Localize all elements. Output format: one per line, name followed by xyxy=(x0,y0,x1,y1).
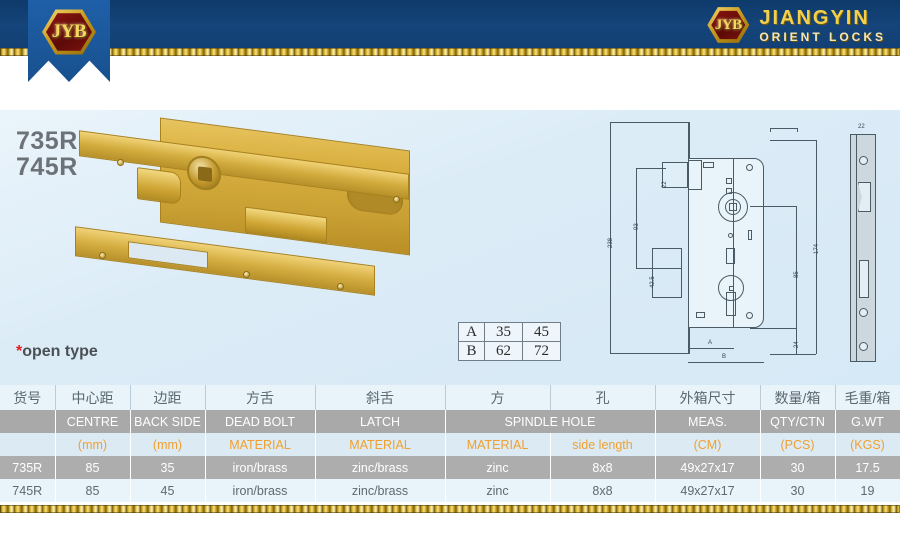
screw-hole xyxy=(117,159,124,166)
ab-value: 35 xyxy=(485,323,523,342)
screw-hole xyxy=(243,271,250,278)
cell-centre: 85 xyxy=(55,456,130,479)
cell-backside: 45 xyxy=(130,479,205,502)
ab-value: 72 xyxy=(523,342,561,361)
gold-divider-bottom xyxy=(0,505,900,513)
ab-value: 62 xyxy=(485,342,523,361)
model-numbers: 735R 745R xyxy=(16,128,78,181)
cell-spindle-side: 8x8 xyxy=(550,456,655,479)
gold-divider-top xyxy=(0,48,900,56)
col-en-centre: CENTRE xyxy=(55,410,130,433)
col-en-backside: BACK SIDE xyxy=(130,410,205,433)
col-cn-backside: 边距 xyxy=(130,385,205,410)
col-en-qty: QTY/CTN xyxy=(760,410,835,433)
faceplate-width-mark xyxy=(770,128,798,132)
hole-detail xyxy=(726,188,732,194)
cell-gwt: 17.5 xyxy=(835,456,900,479)
col-en-meas: MEAS. xyxy=(655,410,760,433)
col-en-latch: LATCH xyxy=(315,410,445,433)
pin-hole xyxy=(728,233,733,238)
cell-gwt: 19 xyxy=(835,479,900,502)
ab-value: 45 xyxy=(523,323,561,342)
slot-detail xyxy=(726,248,735,264)
model-number-2: 745R xyxy=(16,154,78,180)
open-type-label: open type xyxy=(22,343,98,360)
dim-24: 24 xyxy=(794,341,800,348)
col-unit-backside: (mm) xyxy=(130,433,205,456)
slot-detail xyxy=(696,312,705,318)
catalog-page: JYB JIANGYIN ORIENT LOCKS JYB 735R 745R … xyxy=(0,0,900,543)
faceplate-outline xyxy=(850,134,876,362)
col-en-gwt: G.WT xyxy=(835,410,900,433)
cell-meas: 49x27x17 xyxy=(655,479,760,502)
jyb-emblem-icon: JYB xyxy=(707,6,749,44)
ab-row: B 62 72 xyxy=(459,342,561,361)
dim-line xyxy=(770,140,816,141)
dim-line xyxy=(688,362,764,363)
table-row: 735R 85 35 iron/brass zinc/brass zinc 8x… xyxy=(0,456,900,479)
ab-label: A xyxy=(459,323,485,342)
product-photo xyxy=(75,128,435,358)
ab-label: B xyxy=(459,342,485,361)
col-en-blank xyxy=(0,410,55,433)
screw-hole xyxy=(337,283,344,290)
col-unit-deadbolt: MATERIAL xyxy=(205,433,315,456)
open-type-note: *open type xyxy=(16,343,98,361)
cell-deadbolt: iron/brass xyxy=(205,456,315,479)
cell-qty: 30 xyxy=(760,456,835,479)
cell-latch: zinc/brass xyxy=(315,456,445,479)
col-unit-latch: MATERIAL xyxy=(315,433,445,456)
technical-drawing: 238 93 42.5 xyxy=(600,120,890,370)
dim-line xyxy=(750,206,796,207)
slot-detail xyxy=(703,162,714,168)
cell-latch: zinc/brass xyxy=(315,479,445,502)
cell-spindle-material: zinc xyxy=(445,479,550,502)
dim-label-b: B xyxy=(722,354,726,360)
dim-line xyxy=(770,354,816,355)
faceplate-edge xyxy=(856,134,857,362)
brand-tagline: ORIENT LOCKS xyxy=(759,31,886,43)
dim-85: 85 xyxy=(794,271,800,278)
faceplate-screw-hole xyxy=(859,156,868,165)
col-unit-gwt: (KGS) xyxy=(835,433,900,456)
slot-detail xyxy=(748,230,752,240)
dim-line xyxy=(610,122,688,123)
dim-42-5: 42.5 xyxy=(650,276,656,288)
dim-93: 93 xyxy=(634,223,640,230)
dim-line xyxy=(750,328,796,329)
dim-overall: 238 xyxy=(608,238,614,248)
col-unit-meas: (CM) xyxy=(655,433,760,456)
col-unit-qty: (PCS) xyxy=(760,433,835,456)
table-header-row-cn: 货号 中心距 边距 方舌 斜舌 方 孔 外箱尺寸 数量/箱 毛重/箱 xyxy=(0,385,900,410)
col-cn-latch: 斜舌 xyxy=(315,385,445,410)
model-number-1: 735R xyxy=(16,128,78,154)
cell-model: 735R xyxy=(0,456,55,479)
screw-hole-circle xyxy=(746,164,753,171)
col-unit-blank xyxy=(0,433,55,456)
col-cn-meas: 外箱尺寸 xyxy=(655,385,760,410)
ab-dimension-table: A 35 45 B 62 72 xyxy=(458,322,561,361)
ab-row: A 35 45 xyxy=(459,323,561,342)
faceplate-bolt-cutout xyxy=(859,260,869,298)
col-cn-centre: 中心距 xyxy=(55,385,130,410)
cell-model: 745R xyxy=(0,479,55,502)
cylinder-stem xyxy=(726,292,736,316)
cell-meas: 49x27x17 xyxy=(655,456,760,479)
cell-qty: 30 xyxy=(760,479,835,502)
col-cn-model: 货号 xyxy=(0,385,55,410)
col-cn-gwt: 毛重/箱 xyxy=(835,385,900,410)
col-cn-deadbolt: 方舌 xyxy=(205,385,315,410)
brand-name: JIANGYIN xyxy=(759,8,886,28)
specification-table: 货号 中心距 边距 方舌 斜舌 方 孔 外箱尺寸 数量/箱 毛重/箱 CENTR… xyxy=(0,385,900,502)
table-row: 745R 85 45 iron/brass zinc/brass zinc 8x… xyxy=(0,479,900,502)
hole-detail xyxy=(726,178,732,184)
cell-backside: 35 xyxy=(130,456,205,479)
table-header-row-en: CENTRE BACK SIDE DEAD BOLT LATCH SPINDLE… xyxy=(0,410,900,433)
dim-line xyxy=(636,168,666,169)
col-en-spindle-hole: SPINDLE HOLE xyxy=(445,410,655,433)
dim-line xyxy=(796,206,797,328)
col-cn-spindle-b: 孔 xyxy=(550,385,655,410)
col-cn-spindle-a: 方 xyxy=(445,385,550,410)
faceplate-screw-hole xyxy=(859,342,868,351)
dim-faceplate-22: 22 xyxy=(858,124,865,130)
brand-text: JIANGYIN ORIENT LOCKS xyxy=(759,8,886,43)
screw-hole-circle xyxy=(746,312,753,319)
detail-box xyxy=(652,248,682,298)
emblem-text: JYB xyxy=(715,17,742,34)
table-header-row-unit: (mm) (mm) MATERIAL MATERIAL MATERIAL sid… xyxy=(0,433,900,456)
col-unit-spindle-material: MATERIAL xyxy=(445,433,550,456)
dim-line xyxy=(636,168,637,268)
cell-centre: 85 xyxy=(55,479,130,502)
cell-spindle-side: 8x8 xyxy=(550,479,655,502)
company-brand: JYB JIANGYIN ORIENT LOCKS xyxy=(707,6,886,44)
dim-22: 22 xyxy=(662,181,668,188)
dim-line xyxy=(688,348,734,349)
faceplate-screw-hole xyxy=(859,308,868,317)
latch-bolt xyxy=(137,167,181,205)
dim-174: 174 xyxy=(814,244,820,254)
dim-line xyxy=(610,353,688,354)
ribbon-jyb-emblem-icon: JYB xyxy=(42,8,96,56)
spindle-square xyxy=(729,203,737,211)
cylinder-center xyxy=(729,286,734,291)
col-unit-centre: (mm) xyxy=(55,433,130,456)
dim-label-a: A xyxy=(708,340,712,346)
cell-spindle-material: zinc xyxy=(445,456,550,479)
cell-deadbolt: iron/brass xyxy=(205,479,315,502)
ribbon-emblem-text: JYB xyxy=(52,21,86,43)
screw-hole xyxy=(99,252,106,259)
col-cn-qty: 数量/箱 xyxy=(760,385,835,410)
latch-detail xyxy=(688,160,702,190)
col-en-deadbolt: DEAD BOLT xyxy=(205,410,315,433)
col-unit-spindle-side: side length xyxy=(550,433,655,456)
screw-hole xyxy=(393,196,400,203)
